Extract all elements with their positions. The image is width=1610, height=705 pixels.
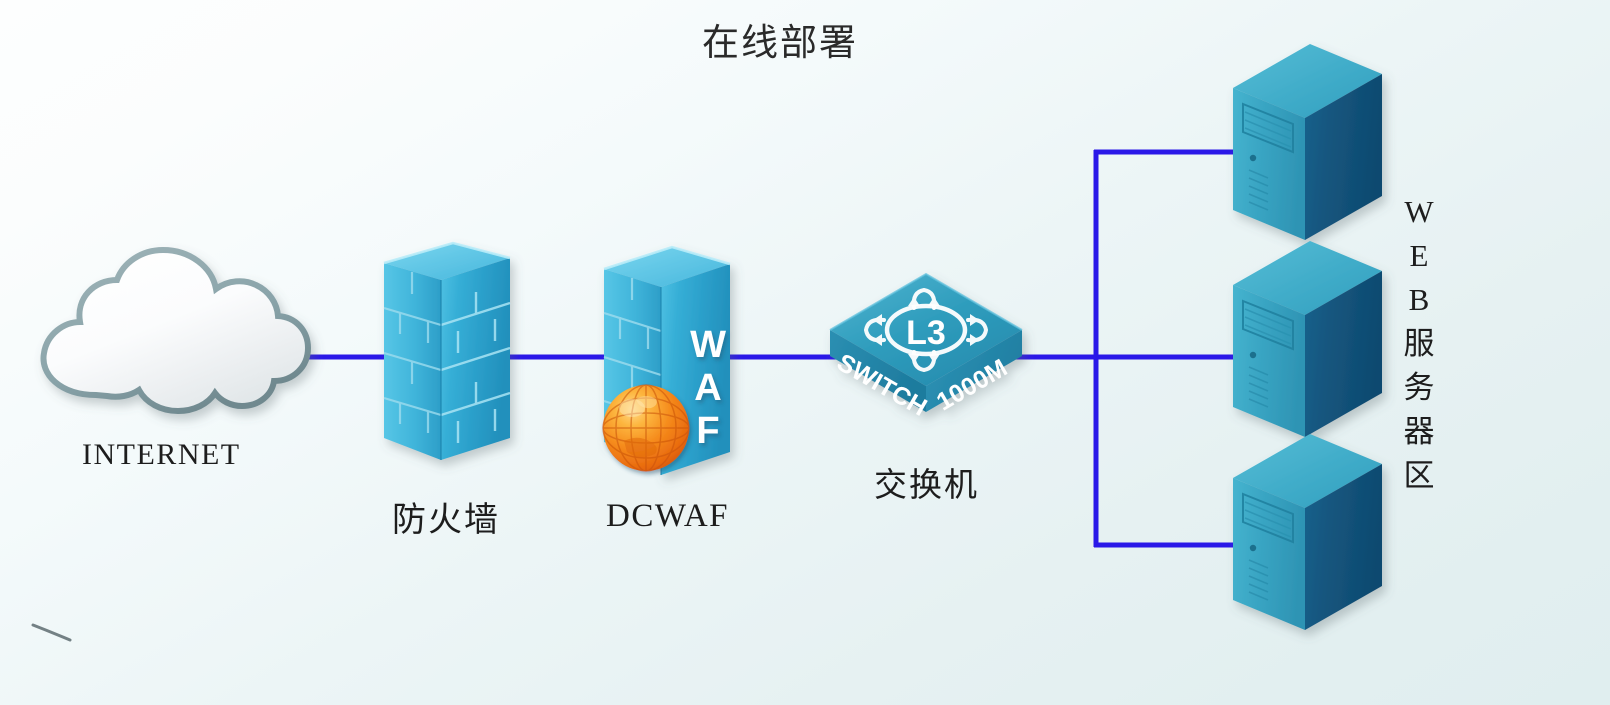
server-tower-middle [1233, 241, 1382, 437]
web-zone-char-0: W [1396, 190, 1442, 234]
web-zone-char-5: 器 [1396, 410, 1442, 454]
firewall-brick-wall-icon [384, 243, 510, 460]
web-zone-char-6: 区 [1396, 454, 1442, 498]
page-title: 在线部署 [0, 12, 1560, 66]
label-web-server-zone: W E B 服 务 器 区 [1396, 190, 1442, 498]
label-firewall: 防火墙 [392, 492, 500, 541]
diagram-graphics: W A F [0, 0, 1610, 705]
web-zone-char-2: B [1396, 278, 1442, 322]
waf-letter-f: F [696, 410, 719, 452]
stray-stroke-artifact [33, 625, 70, 640]
globe-icon [603, 385, 689, 471]
web-zone-char-1: E [1396, 234, 1442, 278]
label-dcwaf: DCWAF [606, 498, 729, 535]
server-tower-top [1233, 44, 1382, 240]
network-diagram-canvas: W A F [0, 0, 1610, 705]
web-zone-char-4: 务 [1396, 366, 1442, 410]
label-internet: INTERNET [82, 438, 241, 472]
switch-icon: L3 SWITCH [830, 274, 1022, 422]
internet-cloud-icon [43, 250, 308, 411]
waf-letter-w: W [690, 324, 726, 366]
waf-letter-a: A [694, 367, 721, 409]
server-tower-bottom [1233, 434, 1382, 630]
web-zone-char-3: 服 [1396, 322, 1442, 366]
label-switch: 交换机 [874, 458, 979, 506]
switch-l3-text: L3 [906, 314, 946, 352]
